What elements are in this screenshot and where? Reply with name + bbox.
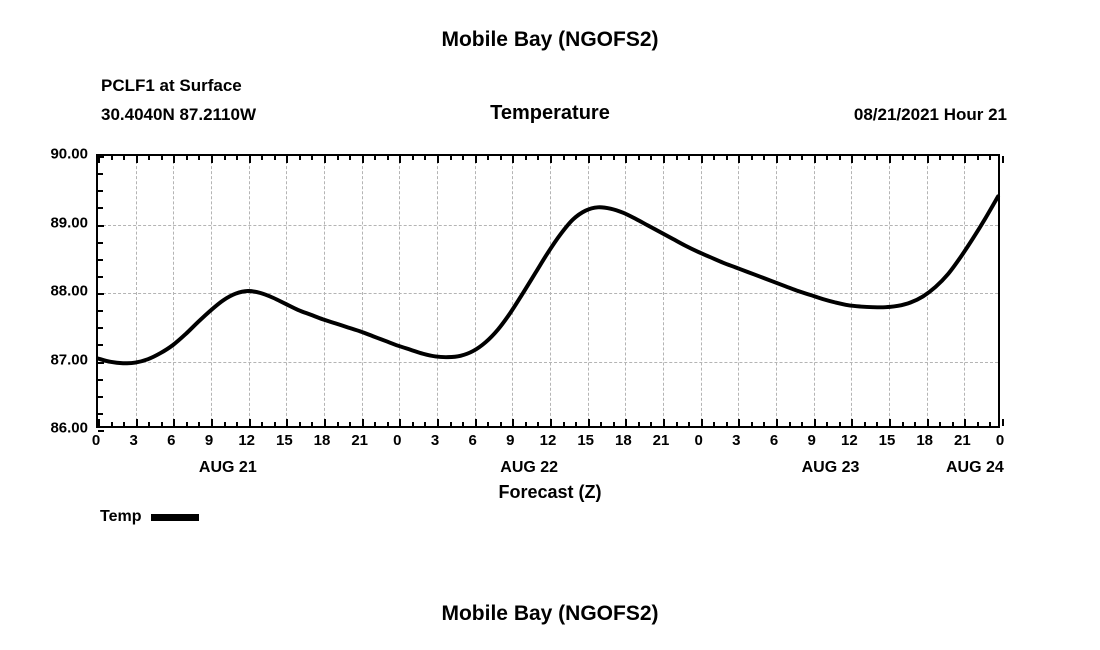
x-axis-label: 3 xyxy=(129,432,137,449)
y-axis-label: 90.00 xyxy=(50,146,88,163)
x-axis-day-label: AUG 21 xyxy=(199,459,257,477)
x-axis-day-label: AUG 24 xyxy=(946,459,1004,477)
x-axis-label: 12 xyxy=(841,432,858,449)
run-datetime-label: 08/21/2021 Hour 21 xyxy=(854,105,1007,125)
x-axis-label: 0 xyxy=(92,432,100,449)
y-axis-label: 88.00 xyxy=(50,283,88,300)
x-axis-label: 18 xyxy=(916,432,933,449)
x-axis-label: 21 xyxy=(351,432,368,449)
series-temp xyxy=(98,156,998,426)
x-axis-label: 15 xyxy=(276,432,293,449)
x-axis-day-label: AUG 22 xyxy=(500,459,558,477)
x-axis-label: 18 xyxy=(314,432,331,449)
x-axis-label: 12 xyxy=(238,432,255,449)
x-axis-label: 15 xyxy=(577,432,594,449)
plot-area xyxy=(96,154,1000,428)
x-axis-label: 9 xyxy=(205,432,213,449)
station-label: PCLF1 at Surface xyxy=(101,76,242,96)
x-axis-label: 9 xyxy=(807,432,815,449)
x-axis-tick xyxy=(1002,419,1004,426)
x-axis-label: 9 xyxy=(506,432,514,449)
x-axis-label: 0 xyxy=(996,432,1004,449)
legend: Temp xyxy=(100,508,199,526)
x-axis-label: 6 xyxy=(167,432,175,449)
x-axis-title: Forecast (Z) xyxy=(0,482,1100,503)
x-axis-label: 18 xyxy=(615,432,632,449)
y-axis-label: 87.00 xyxy=(50,351,88,368)
page-title: Mobile Bay (NGOFS2) xyxy=(0,28,1100,52)
x-axis-label: 0 xyxy=(393,432,401,449)
series-line-temp xyxy=(98,197,998,364)
x-axis-day-label: AUG 23 xyxy=(802,459,860,477)
x-axis-label: 6 xyxy=(468,432,476,449)
x-axis-label: 3 xyxy=(431,432,439,449)
x-axis-label: 3 xyxy=(732,432,740,449)
chart-page: Mobile Bay (NGOFS2) PCLF1 at Surface 30.… xyxy=(0,0,1100,650)
x-axis-label: 0 xyxy=(694,432,702,449)
page-title-bottom: Mobile Bay (NGOFS2) xyxy=(0,602,1100,626)
x-axis-tick-top xyxy=(1002,156,1004,163)
y-axis-label: 89.00 xyxy=(50,214,88,231)
x-axis-label: 21 xyxy=(653,432,670,449)
legend-swatch-temp xyxy=(151,514,199,521)
x-axis-label: 6 xyxy=(770,432,778,449)
legend-label-temp: Temp xyxy=(100,508,141,526)
x-axis-label: 12 xyxy=(540,432,557,449)
x-axis-label: 15 xyxy=(879,432,896,449)
x-axis-label: 21 xyxy=(954,432,971,449)
y-axis-label: 86.00 xyxy=(50,420,88,437)
